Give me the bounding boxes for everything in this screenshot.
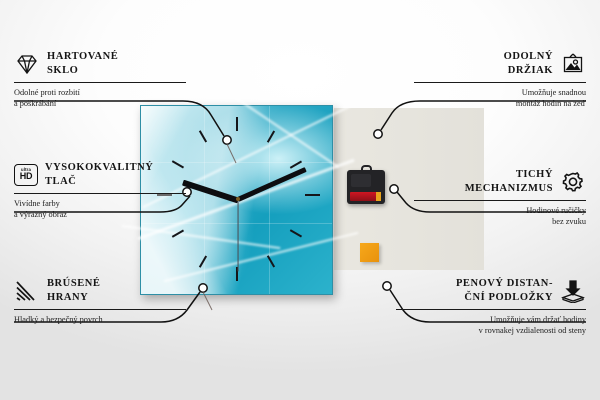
feature-title-line2: MECHANIZMUS <box>465 182 553 196</box>
feature-tempered-glass[interactable]: HARTOVANÉ SKLO Odolné proti rozbití a po… <box>14 50 186 109</box>
feature-header: BRÚSENÉ HRANY <box>14 277 186 304</box>
feature-title: TICHÝ MECHANIZMUS <box>465 168 553 195</box>
feature-title-line1: PENOVÝ DISTAN- <box>456 277 553 291</box>
feature-title-line1: BRÚSENÉ <box>47 277 100 291</box>
divider <box>14 309 186 310</box>
feature-desc-line2: a výrazný obraz <box>14 209 186 220</box>
feature-header: TICHÝ MECHANIZMUS <box>414 168 586 195</box>
picture-frame-icon <box>560 52 586 76</box>
feature-desc-line1: Umožňuje snadnou <box>414 87 586 98</box>
feature-desc-line1: Hladký a bezpečný povrch <box>14 314 186 325</box>
feature-desc-line2: a poškrábání <box>14 98 186 109</box>
gear-icon <box>560 170 586 194</box>
feature-title-line2: SKLO <box>47 64 118 78</box>
divider <box>14 193 186 194</box>
feature-title-line2: HRANY <box>47 291 100 305</box>
callout-node <box>374 130 382 138</box>
feature-title: PENOVÝ DISTAN- ČNÍ PODLOŽKY <box>456 277 553 304</box>
callout-node <box>383 282 391 290</box>
feature-silent-mechanism[interactable]: TICHÝ MECHANIZMUS Hodinové ručičky bez z… <box>414 168 586 227</box>
feature-polished-edges[interactable]: BRÚSENÉ HRANY Hladký a bezpečný povrch <box>14 277 186 325</box>
feature-title-line2: TLAČ <box>45 175 153 189</box>
feature-title: VYSOKOKVALITNÝ TLAČ <box>45 161 153 188</box>
feature-description: Umožňuje snadnou montáž hodin na zeď <box>414 87 586 109</box>
feature-desc-line1: Vivídne farby <box>14 198 186 209</box>
feature-description: Hodinové ručičky bez zvuku <box>414 205 586 227</box>
divider <box>414 200 586 201</box>
feature-desc-line1: Hodinové ručičky <box>414 205 586 216</box>
feature-title-line1: HARTOVANÉ <box>47 50 118 64</box>
infographic-canvas: HARTOVANÉ SKLO Odolné proti rozbití a po… <box>0 0 600 400</box>
feature-header: PENOVÝ DISTAN- ČNÍ PODLOŽKY <box>396 277 586 304</box>
feature-desc-line1: Odolné proti rozbití <box>14 87 186 98</box>
feature-title-line1: VYSOKOKVALITNÝ <box>45 161 153 175</box>
feature-description: Umožňuje vám držať hodiny v rovnakej vzd… <box>396 314 586 336</box>
divider <box>396 309 586 310</box>
feature-desc-line2: v rovnakej vzdialenosti od steny <box>396 325 586 336</box>
press-down-icon <box>560 279 586 303</box>
callout-node <box>223 136 231 144</box>
callout-node <box>390 185 398 193</box>
divider <box>14 82 186 83</box>
feature-title-line2: ČNÍ PODLOŽKY <box>456 291 553 305</box>
feature-description: Vivídne farby a výrazný obraz <box>14 198 186 220</box>
diagonal-lines-icon <box>14 279 40 303</box>
feature-durable-hanger[interactable]: ODOLNÝ DRŽIAK Umožňuje snadnou montáž ho… <box>414 50 586 109</box>
feature-header: ultra HD VYSOKOKVALITNÝ TLAČ <box>14 161 186 188</box>
feature-title-line1: ODOLNÝ <box>504 50 553 64</box>
feature-desc-line2: montáž hodin na zeď <box>414 98 586 109</box>
feature-title: BRÚSENÉ HRANY <box>47 277 100 304</box>
feature-header: ODOLNÝ DRŽIAK <box>414 50 586 77</box>
divider <box>414 82 586 83</box>
hd-label: HD <box>20 172 33 182</box>
callout-node <box>199 284 207 292</box>
feature-header: HARTOVANÉ SKLO <box>14 50 186 77</box>
feature-description: Odolné proti rozbití a poškrábání <box>14 87 186 109</box>
feature-title: HARTOVANÉ SKLO <box>47 50 118 77</box>
feature-title-line2: DRŽIAK <box>504 64 553 78</box>
ultra-hd-icon: ultra HD <box>14 164 38 186</box>
feature-description: Hladký a bezpečný povrch <box>14 314 186 325</box>
feature-title: ODOLNÝ DRŽIAK <box>504 50 553 77</box>
diamond-icon <box>14 52 40 76</box>
feature-high-quality-print[interactable]: ultra HD VYSOKOKVALITNÝ TLAČ Vivídne far… <box>14 161 186 220</box>
feature-title-line1: TICHÝ <box>465 168 553 182</box>
feature-desc-line1: Umožňuje vám držať hodiny <box>396 314 586 325</box>
feature-desc-line2: bez zvuku <box>414 216 586 227</box>
feature-foam-spacers[interactable]: PENOVÝ DISTAN- ČNÍ PODLOŽKY Umožňuje vám… <box>396 277 586 336</box>
